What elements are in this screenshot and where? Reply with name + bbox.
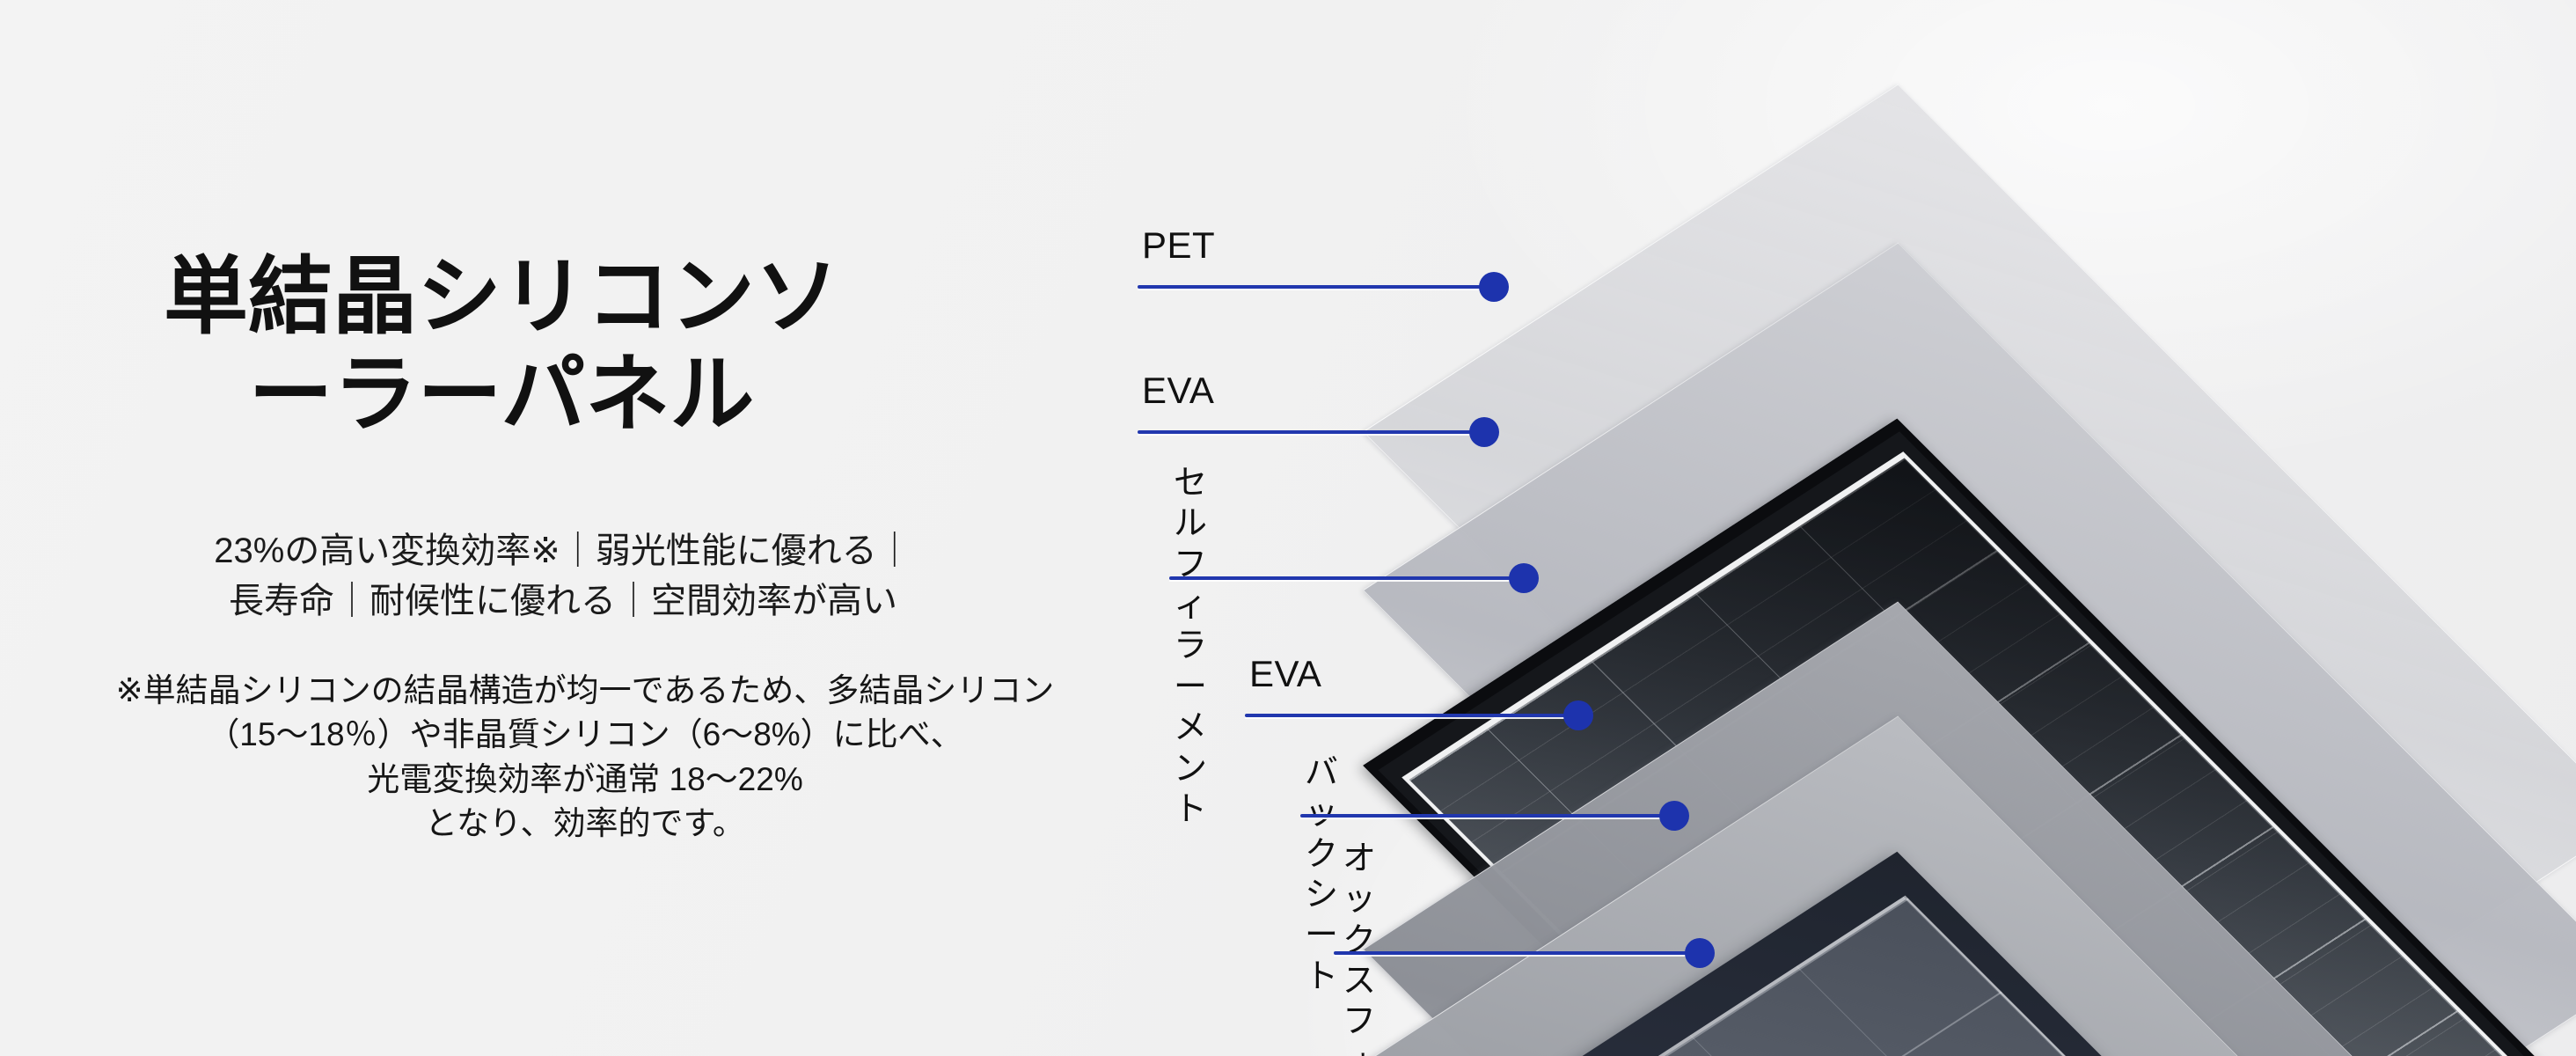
hero-copy: 単結晶シリコンソ ーラーパネル 23%の高い変換効率※｜弱光性能に優れる｜ 長寿…: [0, 0, 1144, 1056]
callout-label-pet: PET: [1142, 223, 1215, 268]
callout-label-eva-bottom: EVA: [1249, 651, 1321, 696]
callout-label-back-sheet: バックシート: [1305, 752, 1338, 997]
leader-line-eva-bottom: [1245, 714, 1575, 717]
leader-line-oxford-cloth: [1334, 951, 1701, 955]
callout-label-cell-filament: セルフィラ ーメント: [1174, 463, 1207, 830]
leader-line-pet: [1138, 285, 1498, 289]
product-hero-banner: 単結晶シリコンソ ーラーパネル 23%の高い変換効率※｜弱光性能に優れる｜ 長寿…: [0, 0, 2576, 1056]
leader-dot-eva-bottom: [1563, 700, 1593, 730]
callout-label-oxford-cloth: オックスフ ォードクロス: [1343, 839, 1376, 1056]
leader-dot-pet: [1479, 272, 1509, 302]
leader-dot-back-sheet: [1659, 801, 1689, 831]
efficiency-footnote: ※単結晶シリコンの結晶構造が均一であるため、多結晶シリコン （15〜18％）や非…: [0, 669, 1170, 846]
leader-line-cell-filament: [1169, 576, 1521, 580]
page-title: 単結晶シリコンソ ーラーパネル: [0, 248, 1003, 444]
leader-line-eva-top: [1138, 430, 1481, 434]
solar-panel-exploded-diagram: [1372, 0, 2576, 1056]
feature-list: 23%の高い変換効率※｜弱光性能に優れる｜ 長寿命｜耐候性に優れる｜空間効率が高…: [0, 526, 1126, 627]
leader-line-back-sheet: [1300, 814, 1670, 818]
leader-dot-eva-top: [1469, 417, 1499, 447]
leader-dot-oxford-cloth: [1685, 938, 1715, 968]
callout-label-eva-top: EVA: [1142, 368, 1214, 413]
leader-dot-cell-filament: [1509, 563, 1539, 593]
